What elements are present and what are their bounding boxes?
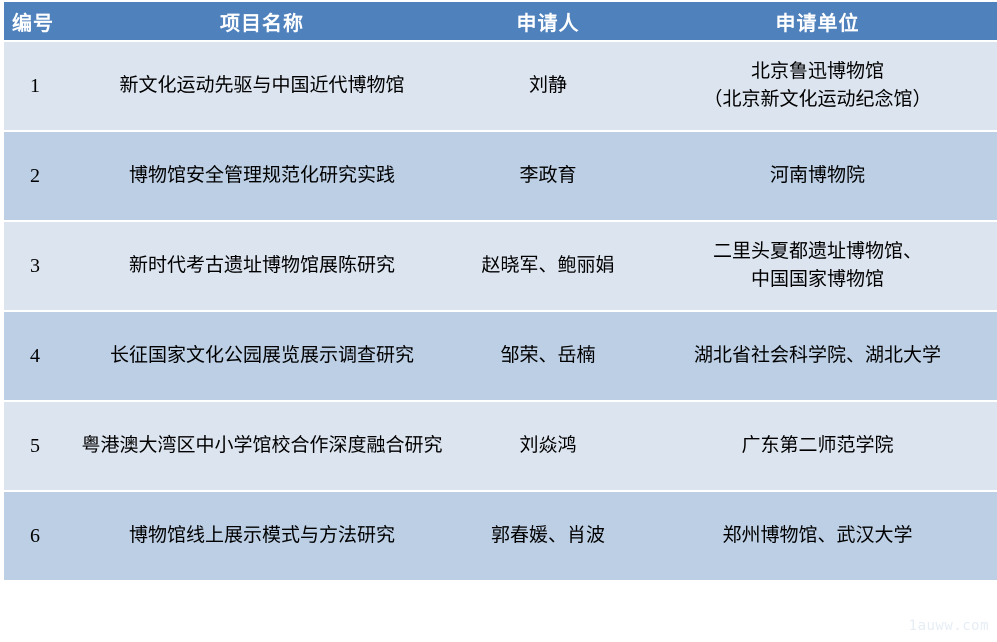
table-header: 编号 项目名称 申请人 申请单位 [4, 2, 997, 40]
cell-no: 3 [4, 222, 66, 310]
column-header-unit: 申请单位 [638, 2, 997, 40]
cell-person: 赵晓军、鲍丽娟 [458, 222, 638, 310]
project-table-container: 编号 项目名称 申请人 申请单位 1 新文化运动先驱与中国近代博物馆 刘静 北京… [0, 0, 997, 642]
column-header-title: 项目名称 [66, 2, 458, 40]
cell-title: 粤港澳大湾区中小学馆校合作深度融合研究 [66, 402, 458, 490]
cell-person: 李政育 [458, 132, 638, 220]
cell-person: 刘焱鸿 [458, 402, 638, 490]
table-header-row: 编号 项目名称 申请人 申请单位 [4, 2, 997, 40]
cell-title: 新时代考古遗址博物馆展陈研究 [66, 222, 458, 310]
cell-unit: 湖北省社会科学院、湖北大学 [638, 312, 997, 400]
cell-person: 郭春媛、肖波 [458, 492, 638, 580]
table-row: 2 博物馆安全管理规范化研究实践 李政育 河南博物院 [4, 132, 997, 220]
table-row: 5 粤港澳大湾区中小学馆校合作深度融合研究 刘焱鸿 广东第二师范学院 [4, 402, 997, 490]
table-row: 1 新文化运动先驱与中国近代博物馆 刘静 北京鲁迅博物馆 （北京新文化运动纪念馆… [4, 42, 997, 130]
cell-title: 长征国家文化公园展览展示调查研究 [66, 312, 458, 400]
cell-title: 博物馆安全管理规范化研究实践 [66, 132, 458, 220]
table-row: 4 长征国家文化公园展览展示调查研究 邹荣、岳楠 湖北省社会科学院、湖北大学 [4, 312, 997, 400]
cell-unit: 二里头夏都遗址博物馆、 中国国家博物馆 [638, 222, 997, 310]
cell-no: 5 [4, 402, 66, 490]
cell-no: 6 [4, 492, 66, 580]
column-header-person: 申请人 [458, 2, 638, 40]
cell-person: 刘静 [458, 42, 638, 130]
table-body: 1 新文化运动先驱与中国近代博物馆 刘静 北京鲁迅博物馆 （北京新文化运动纪念馆… [4, 42, 997, 580]
cell-unit: 广东第二师范学院 [638, 402, 997, 490]
cell-unit: 北京鲁迅博物馆 （北京新文化运动纪念馆） [638, 42, 997, 130]
column-header-no: 编号 [4, 2, 66, 40]
cell-unit: 河南博物院 [638, 132, 997, 220]
cell-person: 邹荣、岳楠 [458, 312, 638, 400]
table-row: 6 博物馆线上展示模式与方法研究 郭春媛、肖波 郑州博物馆、武汉大学 [4, 492, 997, 580]
cell-no: 4 [4, 312, 66, 400]
cell-title: 新文化运动先驱与中国近代博物馆 [66, 42, 458, 130]
cell-unit: 郑州博物馆、武汉大学 [638, 492, 997, 580]
project-list-table: 编号 项目名称 申请人 申请单位 1 新文化运动先驱与中国近代博物馆 刘静 北京… [4, 0, 997, 582]
cell-no: 1 [4, 42, 66, 130]
cell-title: 博物馆线上展示模式与方法研究 [66, 492, 458, 580]
cell-no: 2 [4, 132, 66, 220]
table-row: 3 新时代考古遗址博物馆展陈研究 赵晓军、鲍丽娟 二里头夏都遗址博物馆、 中国国… [4, 222, 997, 310]
site-watermark: 1auww.com [909, 618, 989, 634]
